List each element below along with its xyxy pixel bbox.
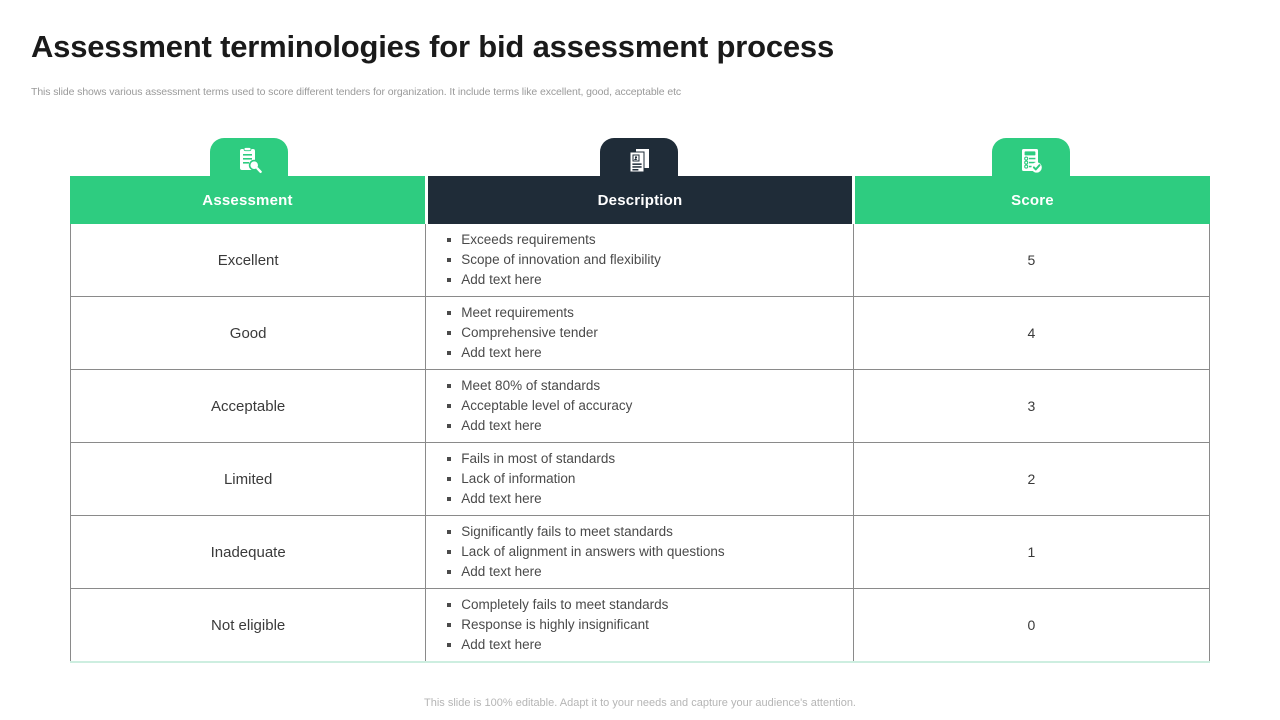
page-subtitle: This slide shows various assessment term… <box>31 86 681 98</box>
list-item: Add text here <box>438 270 852 290</box>
column-header-score: Score <box>855 176 1210 224</box>
cell-description: Completely fails to meet standards Respo… <box>426 589 853 663</box>
column-header-assessment: Assessment <box>70 176 425 224</box>
documents-stack-icon <box>626 147 652 175</box>
list-item: Completely fails to meet standards <box>438 595 852 615</box>
cell-assessment: Not eligible <box>71 589 426 663</box>
cell-description: Meet 80% of standards Acceptable level o… <box>426 370 853 443</box>
cell-assessment: Limited <box>71 443 426 516</box>
cell-assessment: Good <box>71 297 426 370</box>
description-bullet-list: Meet requirements Comprehensive tender A… <box>438 303 852 363</box>
list-item: Add text here <box>438 343 852 363</box>
table-header-row: Assessment Description Score <box>70 176 1210 224</box>
description-bullet-list: Exceeds requirements Scope of innovation… <box>438 230 852 290</box>
list-item: Comprehensive tender <box>438 323 852 343</box>
list-item: Meet requirements <box>438 303 852 323</box>
list-item: Lack of alignment in answers with questi… <box>438 542 852 562</box>
description-bullet-list: Fails in most of standards Lack of infor… <box>438 449 852 509</box>
cell-description: Significantly fails to meet standards La… <box>426 516 853 589</box>
footer-note: This slide is 100% editable. Adapt it to… <box>0 697 1280 709</box>
slide-canvas: Assessment terminologies for bid assessm… <box>0 0 1280 720</box>
table-body: Excellent Exceeds requirements Scope of … <box>70 224 1210 663</box>
cell-score: 0 <box>853 589 1209 663</box>
cell-description: Fails in most of standards Lack of infor… <box>426 443 853 516</box>
list-item: Add text here <box>438 489 852 509</box>
document-search-icon <box>236 147 262 175</box>
description-bullet-list: Meet 80% of standards Acceptable level o… <box>438 376 852 436</box>
table-row: Excellent Exceeds requirements Scope of … <box>71 224 1210 297</box>
list-item: Fails in most of standards <box>438 449 852 469</box>
list-item: Add text here <box>438 416 852 436</box>
cell-score: 1 <box>853 516 1209 589</box>
list-item: Response is highly insignificant <box>438 615 852 635</box>
list-item: Acceptable level of accuracy <box>438 396 852 416</box>
description-bullet-list: Completely fails to meet standards Respo… <box>438 595 852 655</box>
list-item: Significantly fails to meet standards <box>438 522 852 542</box>
table-row: Acceptable Meet 80% of standards Accepta… <box>71 370 1210 443</box>
table-row: Good Meet requirements Comprehensive ten… <box>71 297 1210 370</box>
list-item: Exceeds requirements <box>438 230 852 250</box>
page-title: Assessment terminologies for bid assessm… <box>31 29 834 65</box>
table-row: Inadequate Significantly fails to meet s… <box>71 516 1210 589</box>
cell-assessment: Inadequate <box>71 516 426 589</box>
column-header-description: Description <box>428 176 852 224</box>
checklist-score-icon <box>1018 147 1044 175</box>
cell-score: 4 <box>853 297 1209 370</box>
cell-score: 3 <box>853 370 1209 443</box>
list-item: Scope of innovation and flexibility <box>438 250 852 270</box>
cell-assessment: Excellent <box>71 224 426 297</box>
list-item: Meet 80% of standards <box>438 376 852 396</box>
cell-description: Meet requirements Comprehensive tender A… <box>426 297 853 370</box>
cell-score: 5 <box>853 224 1209 297</box>
cell-score: 2 <box>853 443 1209 516</box>
list-item: Add text here <box>438 562 852 582</box>
table-row: Limited Fails in most of standards Lack … <box>71 443 1210 516</box>
list-item: Lack of information <box>438 469 852 489</box>
list-item: Add text here <box>438 635 852 655</box>
cell-assessment: Acceptable <box>71 370 426 443</box>
cell-description: Exceeds requirements Scope of innovation… <box>426 224 853 297</box>
description-bullet-list: Significantly fails to meet standards La… <box>438 522 852 582</box>
table-row: Not eligible Completely fails to meet st… <box>71 589 1210 663</box>
assessment-table: Assessment Description Score Excellent E… <box>70 176 1210 663</box>
